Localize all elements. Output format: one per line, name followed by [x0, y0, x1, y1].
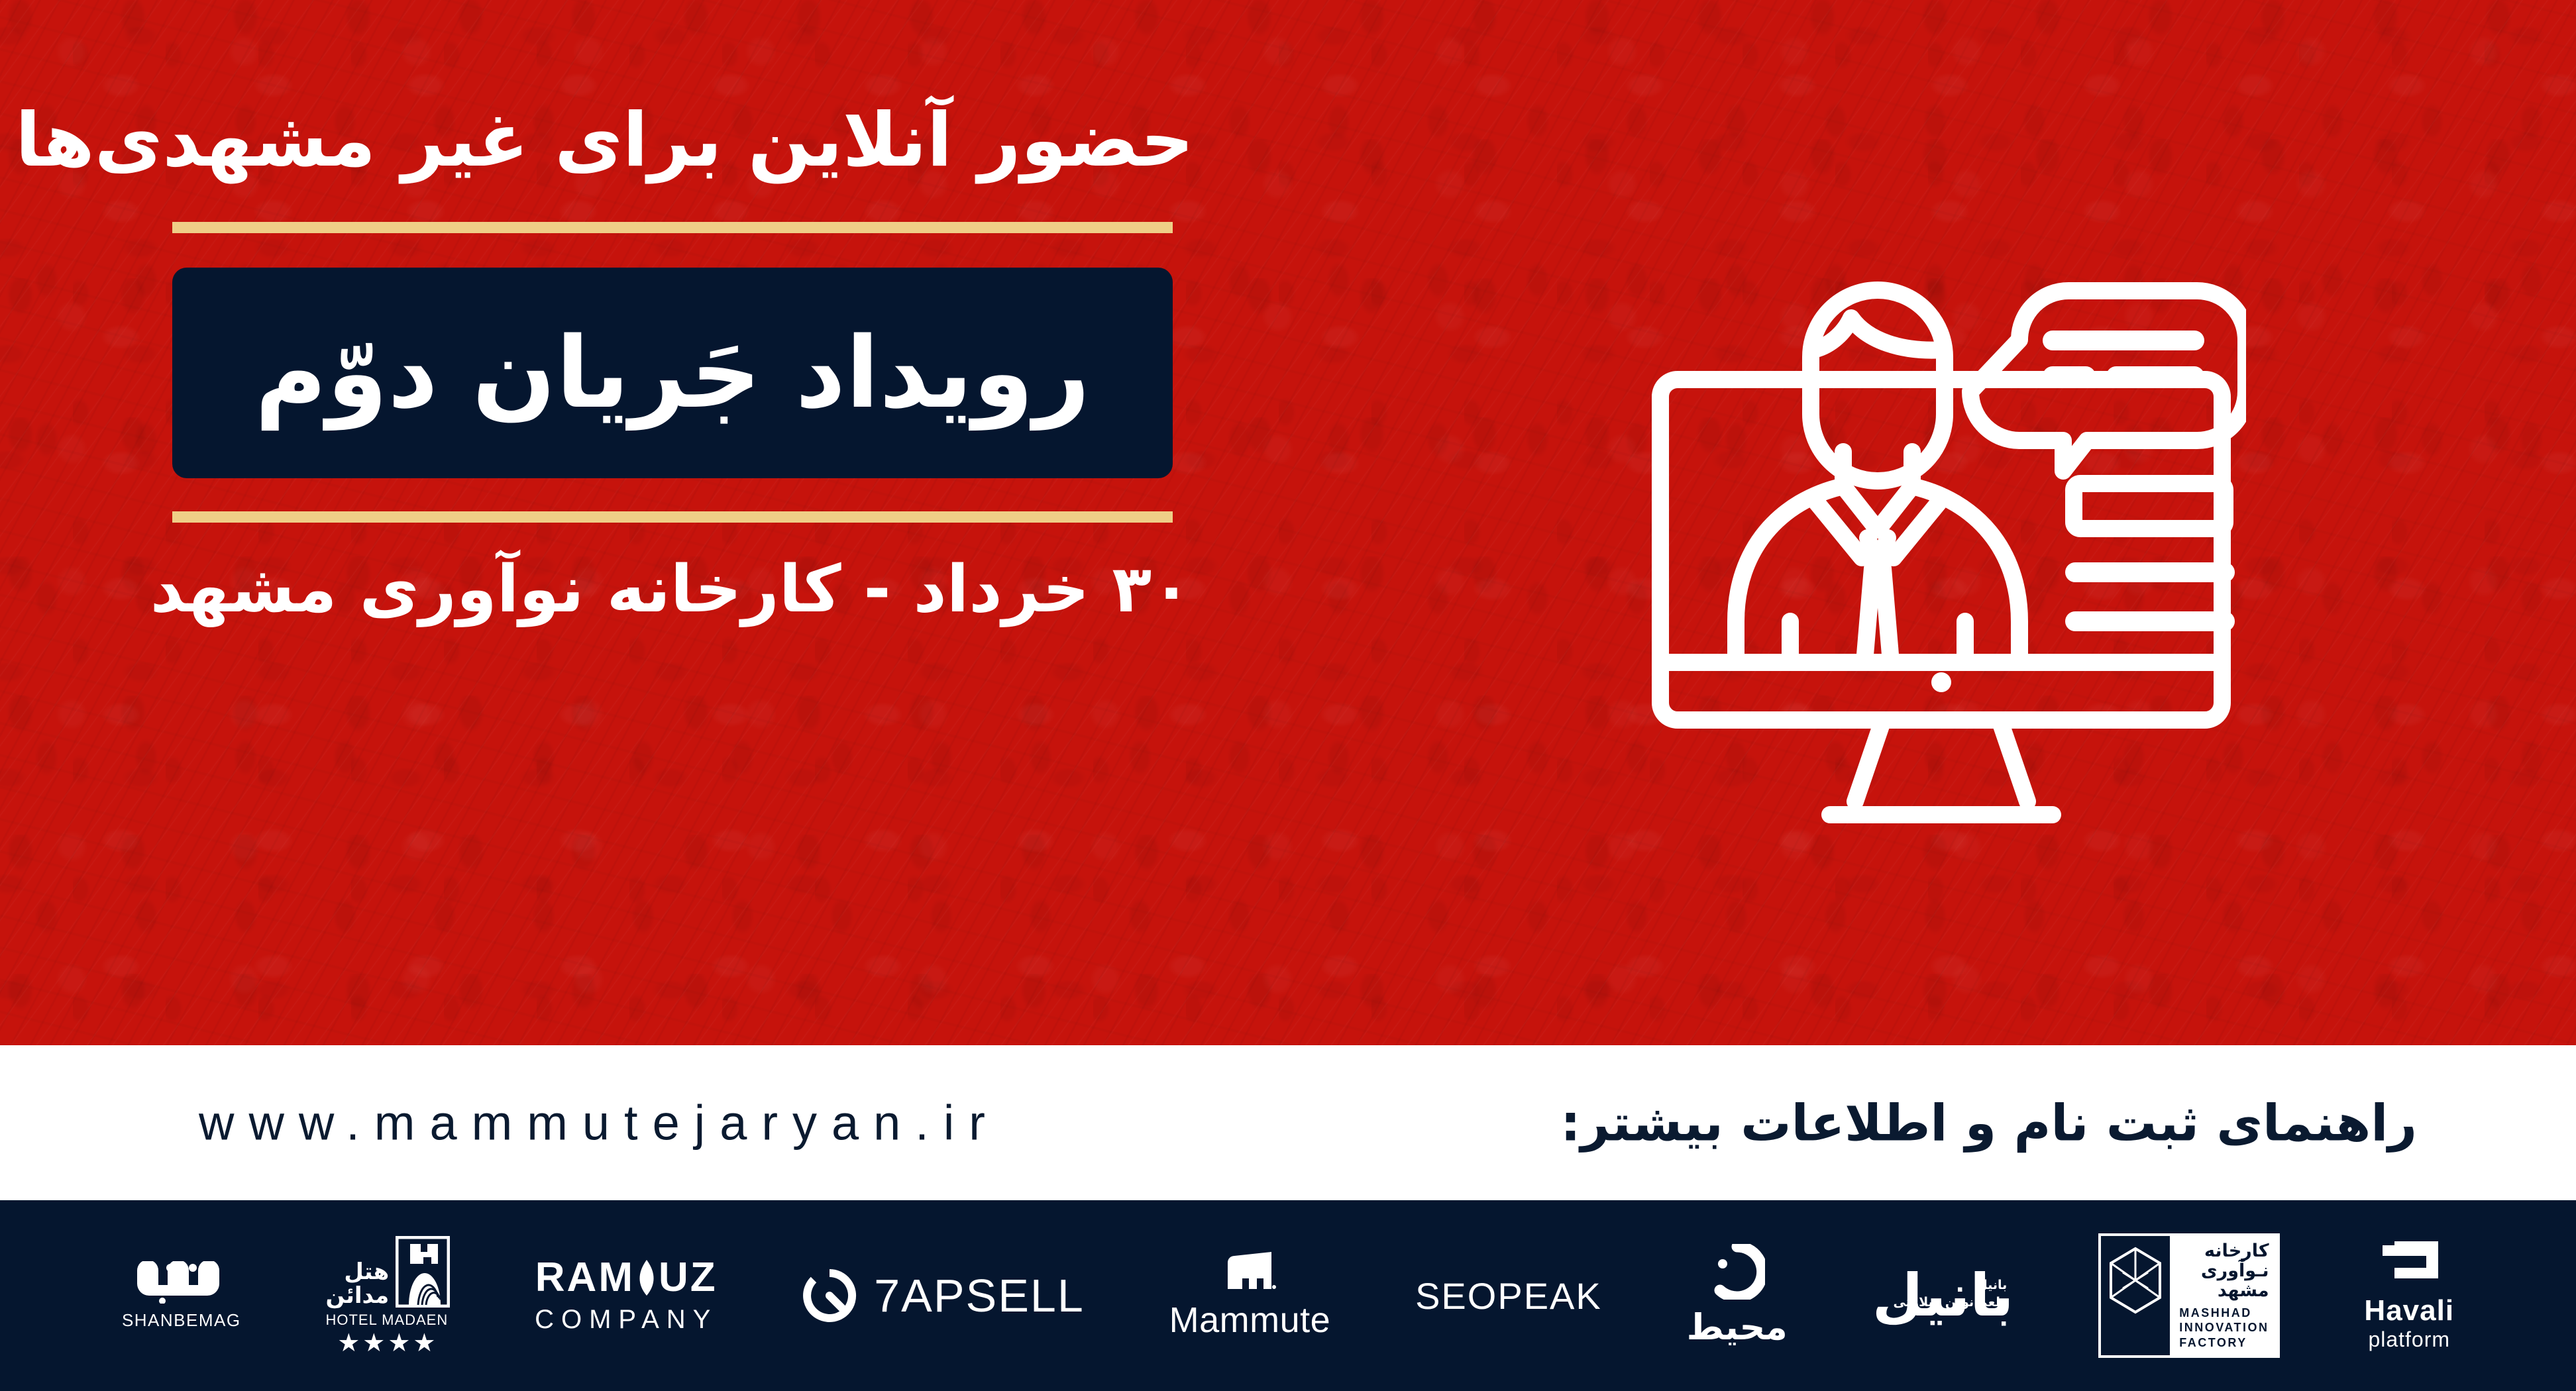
mif-hexagon-icon — [2106, 1246, 2165, 1315]
madaen-wordmark: HOTEL MADAEN — [325, 1312, 448, 1329]
mif-fa-2: نـوآوری — [2179, 1261, 2269, 1281]
havali-subline: platform — [2368, 1327, 2450, 1352]
online-presentation-icon — [1637, 219, 2246, 854]
havali-mark-icon — [2379, 1240, 2440, 1289]
madaen-star-rating: ★★★★ — [337, 1330, 438, 1355]
tapsell-ring-icon — [802, 1268, 857, 1323]
ramouz-wordmark-a: RAM — [535, 1257, 635, 1298]
sponsor-logo-ramouz[interactable]: RAM UZ COMPANY — [535, 1257, 718, 1335]
seopeak-wordmark: SEOPEAK — [1415, 1274, 1602, 1317]
madaen-building-icon — [396, 1236, 450, 1308]
hero-kicker: حضور آنلاین برای غیر مشهدی‌ها — [166, 99, 1199, 182]
banil-tagline-2: طعم نوین سلامتی — [1888, 1294, 2007, 1312]
ramouz-subline: COMPANY — [535, 1305, 718, 1335]
hero-section: حضور آنلاین برای غیر مشهدی‌ها رویداد جَر… — [0, 0, 2576, 1045]
sponsor-footer: SHANBEMAG هتل مدائن — [0, 1200, 2576, 1391]
mif-en-3: FACTORY — [2179, 1335, 2269, 1351]
sponsor-logo-row: SHANBEMAG هتل مدائن — [0, 1200, 2576, 1391]
shanbemag-wordmark: SHANBEMAG — [122, 1310, 241, 1331]
mif-fa-3: مشهد — [2179, 1281, 2269, 1301]
registration-cta-text: راهنمای ثبت نام و اطلاعات بیشتر: — [1560, 1094, 2417, 1153]
event-poster: حضور آنلاین برای غیر مشهدی‌ها رویداد جَر… — [0, 0, 2576, 1391]
mohit-circle-icon — [1709, 1244, 1765, 1300]
madaen-fa-line2: مدائن — [325, 1284, 389, 1308]
banil-tagline-1: بانیل — [1888, 1277, 2007, 1294]
sponsor-logo-hotel-madaen[interactable]: هتل مدائن HOTEL MADAEN ★★★★ — [325, 1236, 450, 1355]
website-url[interactable]: www.mammutejaryan.ir — [199, 1095, 1000, 1151]
ramouz-leaf-icon — [635, 1259, 658, 1297]
tapsell-wordmark: 7APSELL — [874, 1269, 1085, 1322]
sponsor-logo-banil[interactable]: بانیل بانیل طعم نوین سلامتی — [1872, 1266, 2014, 1325]
sponsor-logo-seopeak[interactable]: SEOPEAK — [1415, 1274, 1602, 1317]
event-title: رویداد جَریان دوّم — [255, 324, 1091, 422]
ramouz-wordmark-b: UZ — [659, 1257, 718, 1298]
sponsor-logo-mashhad-innovation-factory[interactable]: کارخانه نـوآوری مشهد MASHHAD INNOVATION … — [2098, 1233, 2279, 1358]
gold-divider-top — [172, 222, 1173, 233]
event-date-venue: ۳۰ خرداد - کارخانه نوآوری مشهد — [166, 554, 1199, 626]
havali-wordmark: Havali — [2364, 1294, 2454, 1327]
event-title-box: رویداد جَریان دوّم — [172, 268, 1173, 478]
mammute-mammoth-icon — [1222, 1251, 1277, 1290]
shanbemag-mark — [132, 1261, 231, 1304]
sponsor-logo-mohit[interactable]: محیط — [1687, 1244, 1788, 1348]
sponsor-logo-shanbemag[interactable]: SHANBEMAG — [122, 1261, 241, 1331]
hero-text-column: حضور آنلاین برای غیر مشهدی‌ها رویداد جَر… — [166, 99, 1199, 626]
madaen-fa-line1: هتل — [325, 1260, 389, 1284]
url-band: www.mammutejaryan.ir راهنمای ثبت نام و ا… — [0, 1045, 2576, 1200]
mif-fa-1: کارخانه — [2179, 1241, 2269, 1261]
gold-divider-bottom — [172, 511, 1173, 523]
mif-en-2: INNOVATION — [2179, 1320, 2269, 1335]
mohit-wordmark: محیط — [1687, 1306, 1788, 1348]
sponsor-logo-mammute[interactable]: Mammute — [1169, 1251, 1331, 1341]
sponsor-logo-havali[interactable]: Havali platform — [2364, 1240, 2454, 1352]
mammute-wordmark: Mammute — [1169, 1300, 1331, 1341]
sponsor-logo-tapsell[interactable]: 7APSELL — [802, 1268, 1085, 1323]
mif-en-1: MASHHAD — [2179, 1306, 2269, 1321]
